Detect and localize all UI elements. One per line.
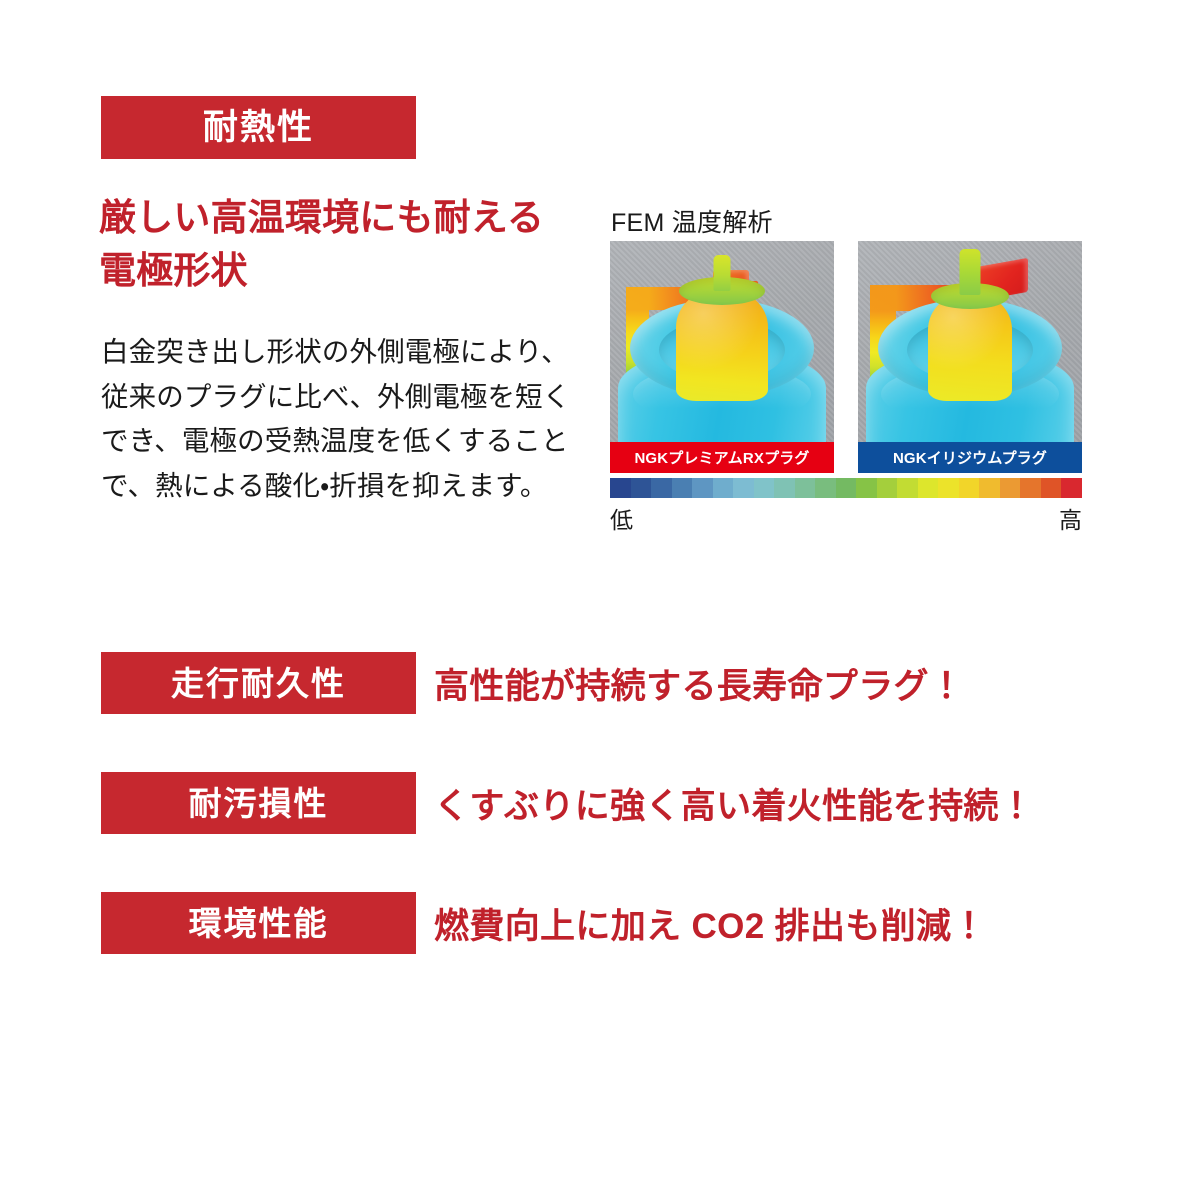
center-electrode-icon [960, 249, 981, 295]
scale-segment-22 [1061, 478, 1082, 498]
feature-row-durability: 走行耐久性 高性能が持続する長寿命プラグ！ [101, 652, 964, 714]
feature-sheet-page: 耐熱性 厳しい高温環境にも耐える 電極形状 白金突き出し形状の外側電極により、 … [0, 0, 1200, 1200]
insulator-nose-icon [928, 293, 1012, 401]
section-badge-heat-resistance: 耐熱性 [101, 96, 416, 159]
feature-text-environmental: 燃費向上に加え CO2 排出も削減！ [434, 898, 987, 949]
temperature-scale-labels: 低 高 [610, 501, 1082, 535]
scale-segment-17 [959, 478, 980, 498]
temperature-scale-bar [610, 478, 1082, 498]
heat-body-line-3: でき、電極の受熱温度を低くすること [101, 419, 596, 464]
feature-badge-durability: 走行耐久性 [101, 652, 416, 714]
fem-panel-iridium: NGKイリジウムプラグ [858, 241, 1082, 473]
scale-segment-10 [815, 478, 836, 498]
fem-panel-premium-rx: NGKプレミアムRXプラグ [610, 241, 834, 473]
scale-label-high: 高 [1059, 501, 1082, 535]
fem-figure-title: FEM 温度解析 [611, 203, 773, 239]
scale-segment-13 [877, 478, 898, 498]
feature-badge-environmental: 環境性能 [101, 892, 416, 954]
feature-badge-fouling-resistance: 耐汚損性 [101, 772, 416, 834]
feature-text-fouling-resistance: くすぶりに強く高い着火性能を持続！ [434, 778, 1034, 829]
scale-segment-1 [631, 478, 652, 498]
scale-segment-21 [1041, 478, 1062, 498]
feature-row-environmental: 環境性能 燃費向上に加え CO2 排出も削減！ [101, 892, 987, 954]
scale-segment-2 [651, 478, 672, 498]
heat-lead-heading: 厳しい高温環境にも耐える 電極形状 [99, 192, 599, 297]
scale-segment-15 [918, 478, 939, 498]
fem-panel-group: NGKプレミアムRXプラグ NGKイリジウムプラグ [610, 241, 1082, 473]
scale-segment-3 [672, 478, 693, 498]
scale-segment-8 [774, 478, 795, 498]
scale-segment-4 [692, 478, 713, 498]
scale-segment-0 [610, 478, 631, 498]
scale-segment-20 [1020, 478, 1041, 498]
heat-lead-line-1: 厳しい高温環境にも耐える [99, 192, 599, 245]
feature-text-durability: 高性能が持続する長寿命プラグ！ [434, 658, 964, 709]
heat-body-line-1: 白金突き出し形状の外側電極により、 [101, 330, 596, 375]
fem-panel-label-premium-rx: NGKプレミアムRXプラグ [610, 442, 834, 473]
scale-segment-9 [795, 478, 816, 498]
scale-segment-19 [1000, 478, 1021, 498]
heat-body-copy: 白金突き出し形状の外側電極により、 従来のプラグに比べ、外側電極を短く でき、電… [101, 330, 596, 508]
heat-lead-line-2: 電極形状 [99, 245, 599, 298]
scale-segment-5 [713, 478, 734, 498]
scale-segment-12 [856, 478, 877, 498]
temperature-scale: 低 高 [610, 478, 1082, 535]
fem-panel-label-iridium: NGKイリジウムプラグ [858, 442, 1082, 473]
scale-segment-16 [938, 478, 959, 498]
insulator-nose-icon [676, 289, 768, 401]
scale-segment-18 [979, 478, 1000, 498]
scale-segment-6 [733, 478, 754, 498]
scale-segment-7 [754, 478, 775, 498]
heat-body-line-2: 従来のプラグに比べ、外側電極を短く [101, 375, 596, 420]
scale-segment-11 [836, 478, 857, 498]
feature-row-fouling-resistance: 耐汚損性 くすぶりに強く高い着火性能を持続！ [101, 772, 1034, 834]
scale-segment-14 [897, 478, 918, 498]
scale-label-low: 低 [610, 501, 633, 535]
center-electrode-icon [714, 255, 731, 291]
heat-body-line-4: で、熱による酸化・折損を抑えます。 [101, 464, 596, 509]
